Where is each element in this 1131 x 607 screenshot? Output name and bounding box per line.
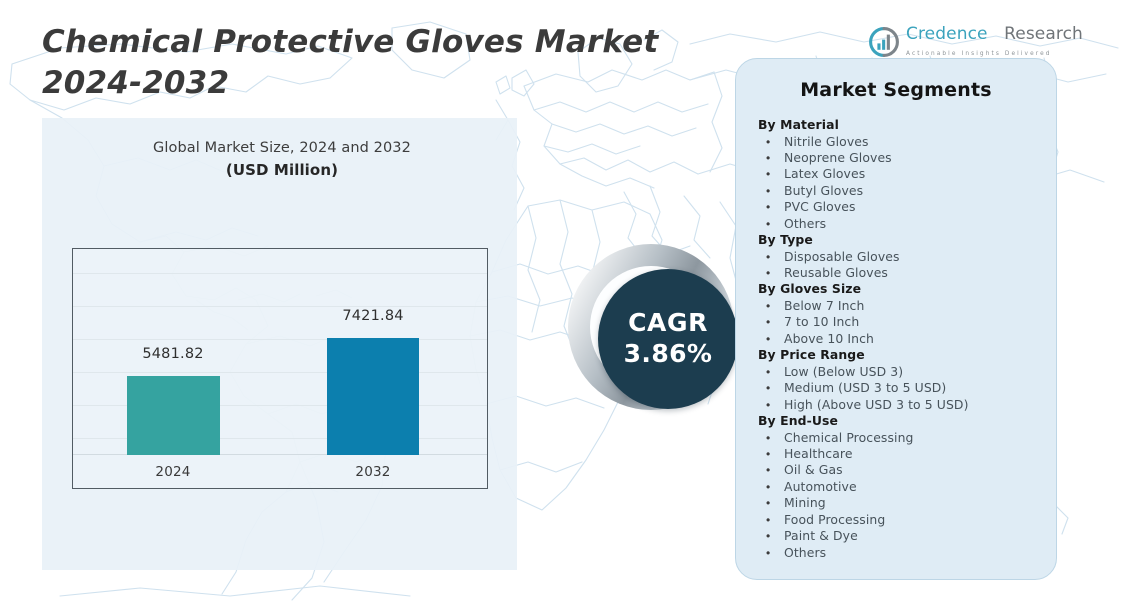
- segment-item-label: Others: [784, 545, 826, 561]
- chart-subtitle: (USD Million): [72, 158, 492, 182]
- segment-item-label: Others: [784, 216, 826, 232]
- cagr-badge: CAGR 3.86%: [568, 244, 758, 434]
- category-label-2024: 2024: [113, 464, 233, 480]
- logo-name-research: Research: [1004, 24, 1083, 44]
- gridline: [73, 372, 487, 373]
- bullet-icon: •: [758, 462, 784, 478]
- segment-list-item[interactable]: •Healthcare: [758, 446, 1034, 462]
- segment-list-item[interactable]: •Disposable Gloves: [758, 249, 1034, 265]
- gridline: [73, 339, 487, 340]
- segment-list-item[interactable]: •Mining: [758, 495, 1034, 511]
- page-title: Chemical Protective Gloves Market 2024-2…: [42, 22, 702, 104]
- bullet-icon: •: [758, 364, 784, 380]
- segment-item-label: Mining: [784, 495, 826, 511]
- bar-value-2024: 5481.82: [113, 346, 233, 362]
- segment-list-item[interactable]: •Medium (USD 3 to 5 USD): [758, 380, 1034, 396]
- bullet-icon: •: [758, 397, 784, 413]
- bullet-icon: •: [758, 216, 784, 232]
- segment-list-item[interactable]: •High (Above USD 3 to 5 USD): [758, 397, 1034, 413]
- segment-list-item[interactable]: •Nitrile Gloves: [758, 134, 1034, 150]
- bullet-icon: •: [758, 150, 784, 166]
- segment-item-label: Above 10 Inch: [784, 331, 874, 347]
- segment-list-item[interactable]: •Automotive: [758, 479, 1034, 495]
- bullet-icon: •: [758, 479, 784, 495]
- chart-title: Global Market Size, 2024 and 2032: [72, 138, 492, 158]
- segment-item-label: Chemical Processing: [784, 430, 914, 446]
- segment-item-label: 7 to 10 Inch: [784, 314, 859, 330]
- segment-item-label: Paint & Dye: [784, 528, 858, 544]
- bullet-icon: •: [758, 380, 784, 396]
- bullet-icon: •: [758, 430, 784, 446]
- logo-text: Credence Research Actionable Insights De…: [906, 26, 1083, 59]
- category-label-2032: 2032: [313, 464, 433, 480]
- bullet-icon: •: [758, 166, 784, 182]
- segment-item-label: Healthcare: [784, 446, 853, 462]
- bullet-icon: •: [758, 183, 784, 199]
- cagr-circle: CAGR 3.86%: [598, 269, 738, 409]
- logo-wordmark: Credence Research: [906, 24, 1083, 44]
- bar-value-2032: 7421.84: [313, 308, 433, 324]
- segment-list-item[interactable]: •PVC Gloves: [758, 199, 1034, 215]
- segment-item-label: Latex Gloves: [784, 166, 865, 182]
- segment-item-label: Oil & Gas: [784, 462, 843, 478]
- bullet-icon: •: [758, 446, 784, 462]
- segment-item-label: Food Processing: [784, 512, 885, 528]
- logo-tagline: Actionable Insights Delivered: [906, 51, 1052, 57]
- segments-list: By Material•Nitrile Gloves•Neoprene Glov…: [758, 117, 1034, 561]
- segment-item-label: Neoprene Gloves: [784, 150, 892, 166]
- bar-2024[interactable]: [127, 376, 220, 455]
- cagr-value: 3.86%: [624, 338, 713, 370]
- segment-list-item[interactable]: •Others: [758, 545, 1034, 561]
- segment-item-label: Butyl Gloves: [784, 183, 863, 199]
- segment-list-item[interactable]: •Reusable Gloves: [758, 265, 1034, 281]
- segment-list-item[interactable]: •7 to 10 Inch: [758, 314, 1034, 330]
- title-line-2: 2024-2032: [42, 63, 702, 104]
- bullet-icon: •: [758, 314, 784, 330]
- chart-plot-area: 5481.82 7421.84 2024 2032: [72, 248, 488, 489]
- bullet-icon: •: [758, 528, 784, 544]
- bar-2032[interactable]: [327, 338, 419, 455]
- market-segments-panel: Market Segments By Material•Nitrile Glov…: [735, 58, 1057, 580]
- segment-group-heading: By Gloves Size: [758, 281, 1034, 298]
- segments-title: Market Segments: [758, 79, 1034, 101]
- segment-list-item[interactable]: •Above 10 Inch: [758, 331, 1034, 347]
- segment-item-label: Nitrile Gloves: [784, 134, 869, 150]
- segment-list-item[interactable]: •Paint & Dye: [758, 528, 1034, 544]
- segment-item-label: Below 7 Inch: [784, 298, 864, 314]
- cagr-label: CAGR: [628, 308, 708, 338]
- bullet-icon: •: [758, 495, 784, 511]
- bullet-icon: •: [758, 298, 784, 314]
- segment-item-label: PVC Gloves: [784, 199, 856, 215]
- segment-list-item[interactable]: •Latex Gloves: [758, 166, 1034, 182]
- segment-group-heading: By Price Range: [758, 347, 1034, 364]
- chart-circle-icon: [869, 27, 899, 57]
- bullet-icon: •: [758, 249, 784, 265]
- segment-list-item[interactable]: •Others: [758, 216, 1034, 232]
- bullet-icon: •: [758, 199, 784, 215]
- segment-item-label: Disposable Gloves: [784, 249, 900, 265]
- market-size-chart: Global Market Size, 2024 and 2032 (USD M…: [72, 138, 492, 490]
- segment-item-label: Low (Below USD 3): [784, 364, 903, 380]
- bullet-icon: •: [758, 512, 784, 528]
- gridline: [73, 273, 487, 274]
- segment-list-item[interactable]: •Chemical Processing: [758, 430, 1034, 446]
- segment-item-label: High (Above USD 3 to 5 USD): [784, 397, 969, 413]
- segment-group-heading: By End-Use: [758, 413, 1034, 430]
- segment-group-heading: By Material: [758, 117, 1034, 134]
- gridline: [73, 306, 487, 307]
- segment-list-item[interactable]: •Butyl Gloves: [758, 183, 1034, 199]
- credence-research-logo[interactable]: Credence Research Actionable Insights De…: [869, 25, 1054, 59]
- segment-list-item[interactable]: •Low (Below USD 3): [758, 364, 1034, 380]
- segment-list-item[interactable]: •Oil & Gas: [758, 462, 1034, 478]
- bullet-icon: •: [758, 265, 784, 281]
- segment-group-heading: By Type: [758, 232, 1034, 249]
- logo-name-credence: Credence: [906, 24, 988, 44]
- segment-item-label: Reusable Gloves: [784, 265, 888, 281]
- title-line-1: Chemical Protective Gloves Market: [42, 22, 702, 63]
- segment-item-label: Medium (USD 3 to 5 USD): [784, 380, 946, 396]
- infographic-root: Chemical Protective Gloves Market 2024-2…: [0, 0, 1131, 607]
- segment-list-item[interactable]: •Neoprene Gloves: [758, 150, 1034, 166]
- segment-list-item[interactable]: •Food Processing: [758, 512, 1034, 528]
- bullet-icon: •: [758, 331, 784, 347]
- segment-item-label: Automotive: [784, 479, 857, 495]
- bullet-icon: •: [758, 545, 784, 561]
- segment-list-item[interactable]: •Below 7 Inch: [758, 298, 1034, 314]
- bullet-icon: •: [758, 134, 784, 150]
